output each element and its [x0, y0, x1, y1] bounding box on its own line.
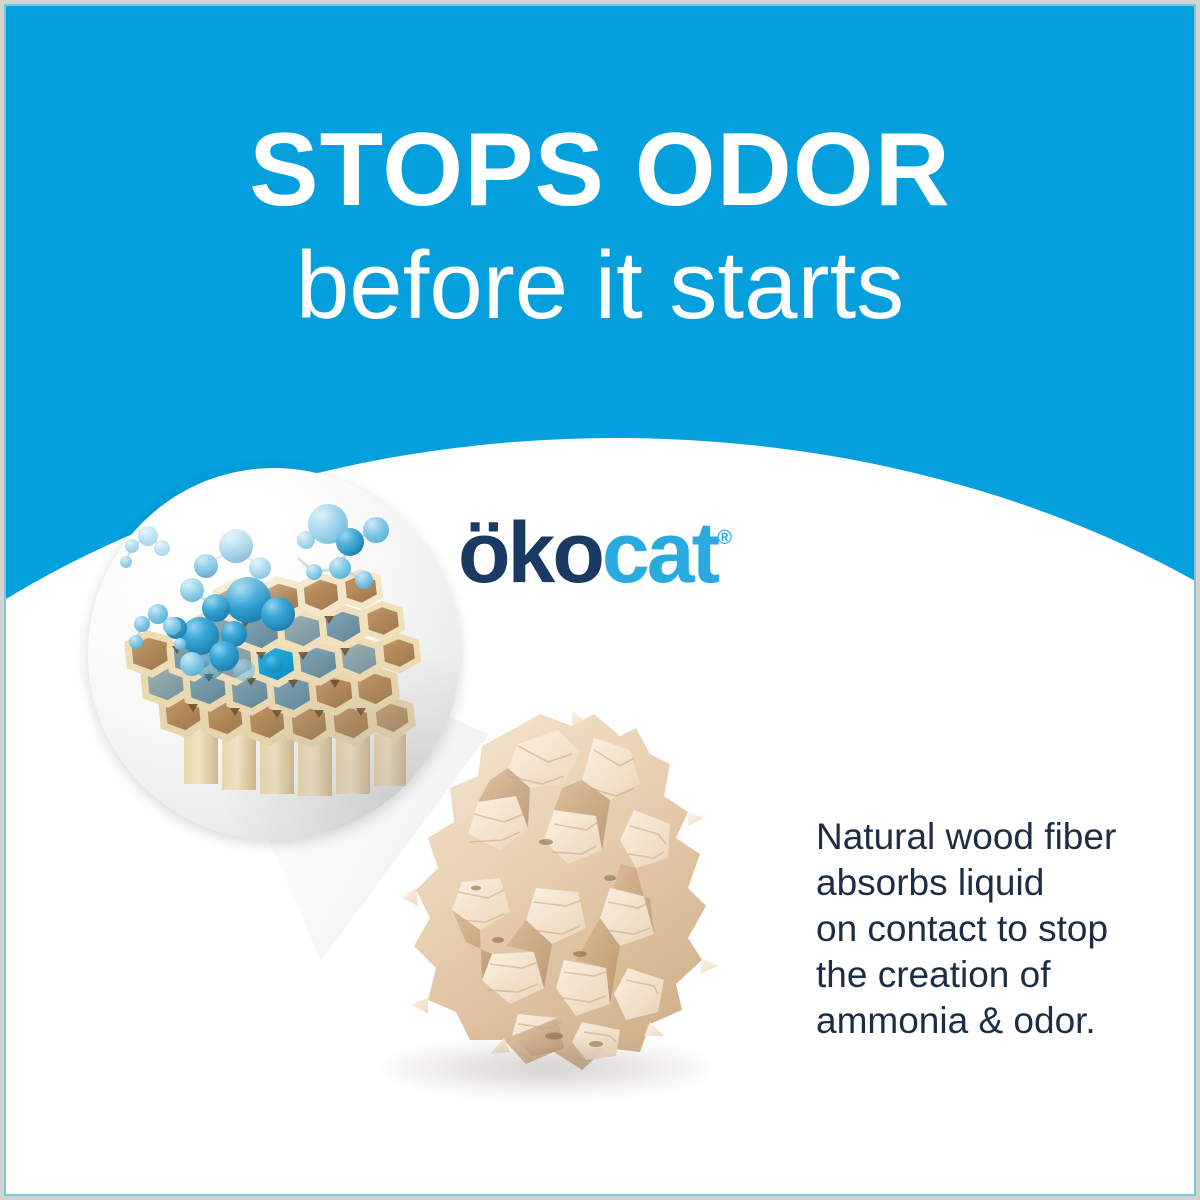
body-copy-line-4: the creation of [816, 952, 1176, 998]
body-copy-line-2: absorbs liquid [816, 860, 1176, 906]
body-copy-line-3: on contact to stop [816, 906, 1176, 952]
headline-primary: STOPS ODOR [6, 118, 1194, 222]
registered-trademark-icon: ® [717, 527, 732, 549]
body-copy-line-5: ammonia & odor. [816, 998, 1176, 1044]
logo-text-oko: öko [458, 505, 602, 601]
body-copy-line-1: Natural wood fiber [816, 814, 1176, 860]
logo-text-cat: cat [602, 505, 717, 601]
headline-secondary: before it starts [6, 234, 1194, 338]
brand-logo: ökocat® [458, 510, 732, 596]
body-copy: Natural wood fiber absorbs liquid on con… [816, 814, 1176, 1043]
clump-shadow [382, 1040, 712, 1096]
wood-fiber-clump [358, 692, 748, 1102]
promo-image: STOPS ODOR before it starts [0, 0, 1200, 1200]
image-frame: STOPS ODOR before it starts [4, 4, 1196, 1196]
